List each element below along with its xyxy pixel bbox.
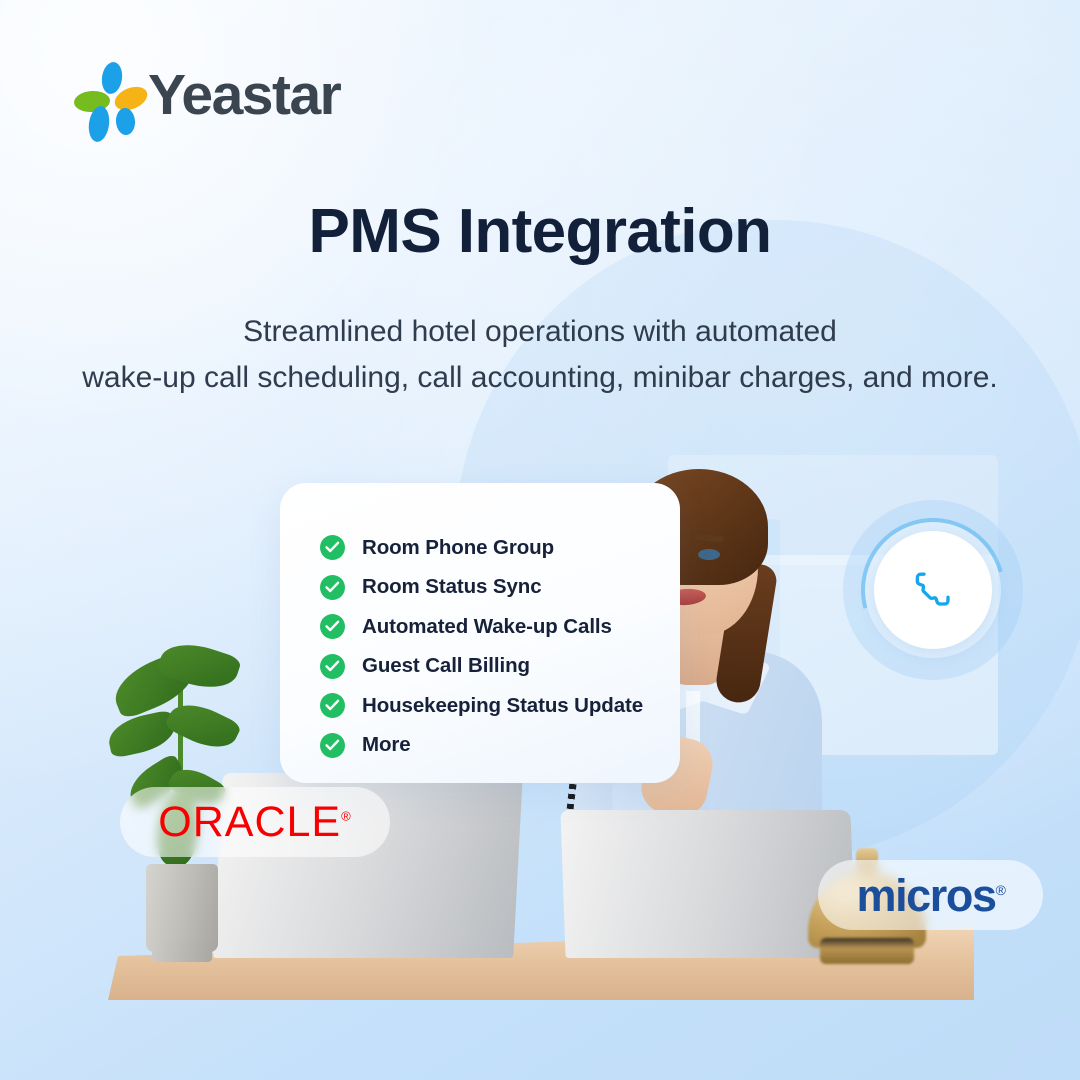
page-subtitle: Streamlined hotel operations with automa… bbox=[0, 309, 1080, 400]
phone-handset-icon bbox=[913, 570, 953, 610]
check-circle-icon bbox=[320, 535, 345, 560]
brand-logo[interactable]: Yeastar bbox=[76, 62, 340, 128]
oracle-label: ORACLE bbox=[158, 798, 341, 846]
phone-badge[interactable] bbox=[843, 500, 1023, 680]
registered-mark: ® bbox=[996, 882, 1005, 898]
check-circle-icon bbox=[320, 733, 345, 758]
plant-leaf bbox=[164, 694, 243, 757]
list-item-label: Room Phone Group bbox=[362, 536, 554, 560]
list-item[interactable]: More bbox=[320, 733, 680, 758]
subtitle-line-2: wake-up call scheduling, call accounting… bbox=[0, 355, 1080, 401]
petal-top-icon bbox=[100, 61, 124, 95]
registered-mark: ® bbox=[341, 808, 352, 823]
list-item[interactable]: Room Phone Group bbox=[320, 535, 680, 560]
check-circle-icon bbox=[320, 693, 345, 718]
plant-pot bbox=[146, 864, 218, 952]
feature-list-card: Room Phone Group Room Status Sync Automa… bbox=[280, 483, 680, 783]
oracle-logo-icon: ORACLE® bbox=[158, 801, 351, 844]
list-item[interactable]: Guest Call Billing bbox=[320, 654, 680, 679]
petal-bottom-right-icon bbox=[115, 107, 136, 135]
list-item-label: Automated Wake-up Calls bbox=[362, 615, 612, 639]
check-circle-icon bbox=[320, 614, 345, 639]
check-circle-icon bbox=[320, 575, 345, 600]
page-title: PMS Integration bbox=[0, 196, 1080, 267]
list-item[interactable]: Room Status Sync bbox=[320, 575, 680, 600]
list-item[interactable]: Housekeeping Status Update bbox=[320, 693, 680, 718]
subtitle-line-1: Streamlined hotel operations with automa… bbox=[243, 315, 837, 348]
partner-badge-oracle[interactable]: ORACLE® bbox=[120, 787, 390, 857]
list-item-label: Housekeeping Status Update bbox=[362, 694, 643, 718]
list-item-label: More bbox=[362, 733, 411, 757]
partner-badge-micros[interactable]: micros® bbox=[818, 860, 1043, 930]
micros-label: micros bbox=[856, 870, 995, 921]
poster-canvas: Yeastar PMS Integration Streamlined hote… bbox=[0, 0, 1080, 1080]
check-circle-icon bbox=[320, 654, 345, 679]
list-item-label: Guest Call Billing bbox=[362, 654, 530, 678]
bell-base bbox=[820, 938, 914, 964]
phone-icon-circle bbox=[874, 531, 992, 649]
yeastar-petal-mark-icon bbox=[76, 62, 138, 128]
list-item[interactable]: Automated Wake-up Calls bbox=[320, 614, 680, 639]
brand-wordmark: Yeastar bbox=[148, 67, 340, 124]
micros-logo-icon: micros® bbox=[856, 873, 1004, 918]
eye-right bbox=[698, 549, 720, 560]
list-item-label: Room Status Sync bbox=[362, 575, 542, 599]
